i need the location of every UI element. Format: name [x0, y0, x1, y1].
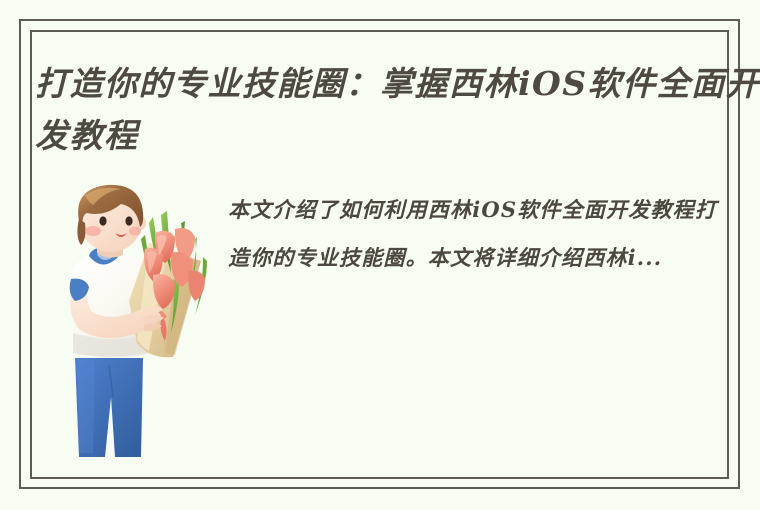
illustration-svg	[45, 183, 220, 463]
head	[77, 185, 146, 258]
pants	[75, 358, 143, 457]
boy-holding-tulip-bouquet-illustration	[45, 183, 220, 463]
article-summary: 本文介绍了如何利用西林iOS软件全面开发教程打造你的专业技能圈。本文将详细介绍西…	[228, 186, 726, 282]
bouquet	[129, 211, 207, 357]
article-title: 打造你的专业技能圈：掌握西林iOS软件全面开发教程	[35, 58, 760, 162]
article-card: 打造你的专业技能圈：掌握西林iOS软件全面开发教程 本文介绍了如何利用西林iOS…	[0, 0, 760, 510]
